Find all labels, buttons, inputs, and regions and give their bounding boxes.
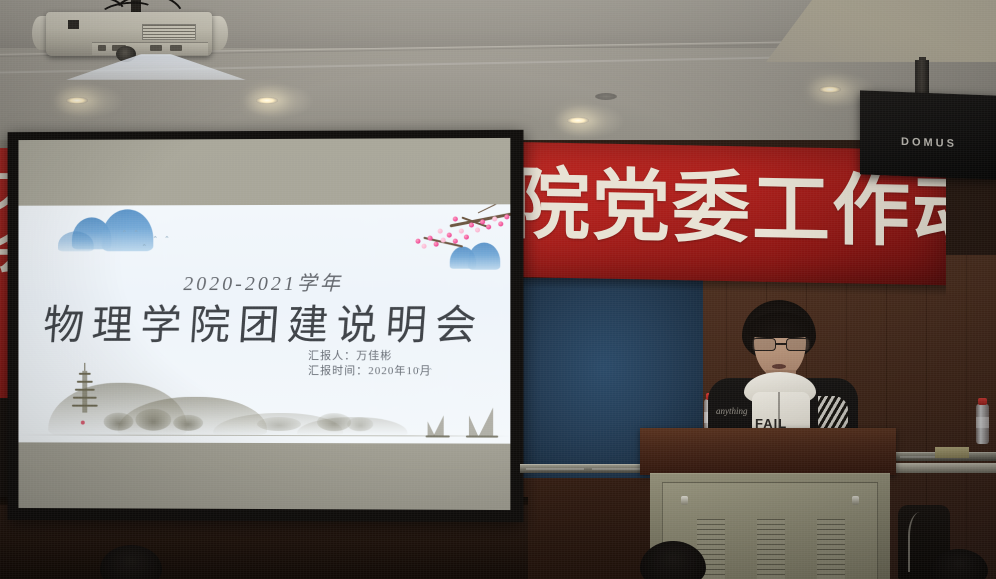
tree-shape — [173, 415, 203, 431]
slide-title: 物理学院团建说明会 — [18, 291, 510, 351]
plum-blossom-branch — [405, 210, 510, 268]
tree-shape — [257, 417, 301, 431]
podium-vent — [817, 519, 845, 579]
tree-shape — [104, 413, 134, 431]
tree-shape — [347, 417, 373, 431]
bird-icon: ⌃ ⌃ — [152, 235, 172, 243]
sailboat-icon — [466, 401, 500, 435]
projector-port — [170, 45, 182, 51]
tree-shape — [135, 409, 171, 431]
ink-wash-landscape: ⌃ ⌃ — [18, 365, 510, 444]
pagoda-icon — [72, 371, 98, 413]
hoodie-script-text: anything — [716, 406, 748, 416]
desk-box — [935, 447, 969, 458]
water-bottle — [976, 404, 989, 444]
podium-vent — [757, 519, 785, 579]
podium-knob[interactable] — [852, 496, 859, 505]
lecture-hall-scene: 院党委工作动员会议 大会 DOMUS ⌃ ⌃ ⌃ ⌃ ⌃ — [0, 0, 996, 579]
podium-top — [640, 428, 896, 475]
bird-icon: ⌃ — [141, 243, 149, 251]
downlight-glow — [243, 84, 313, 118]
presentation-slide: ⌃ ⌃ ⌃ ⌃ ⌃ — [18, 204, 510, 443]
bird-icon: ⌃ ⌃ — [415, 367, 435, 375]
bird-icon: ⌃ ⌃ — [122, 229, 142, 237]
downlight-5 — [819, 86, 841, 93]
wall-speaker: DOMUS — [860, 90, 996, 179]
downlight-glow — [554, 104, 624, 138]
projector-cables — [88, 0, 208, 26]
podium-knob[interactable] — [681, 496, 688, 505]
downlight-glow — [53, 84, 123, 118]
speaker-brand-label: DOMUS — [860, 134, 996, 151]
projection-screen-surface: ⌃ ⌃ ⌃ ⌃ ⌃ — [18, 138, 510, 510]
sailboat-icon — [426, 409, 452, 435]
projection-screen: ⌃ ⌃ ⌃ ⌃ ⌃ — [8, 130, 524, 522]
projector-port — [150, 45, 162, 51]
projector-indicator — [68, 20, 79, 29]
downlight-3 — [567, 117, 589, 124]
slide-presenter: 汇报人：万佳彬 — [308, 349, 432, 364]
downlight-2 — [256, 97, 278, 104]
desk-surface — [896, 463, 996, 473]
person-mouth — [772, 364, 786, 369]
bottle-cap — [978, 398, 987, 405]
eyeglasses-icon — [752, 338, 810, 351]
bottle-label — [976, 417, 989, 428]
ceiling-projector — [36, 4, 222, 60]
downlight-4-off — [595, 93, 617, 100]
projector-vent-grille — [142, 24, 196, 40]
downlight-1 — [66, 97, 88, 104]
red-accent-dot — [81, 421, 85, 425]
projector-port — [98, 45, 106, 51]
tree-shape — [317, 413, 351, 431]
